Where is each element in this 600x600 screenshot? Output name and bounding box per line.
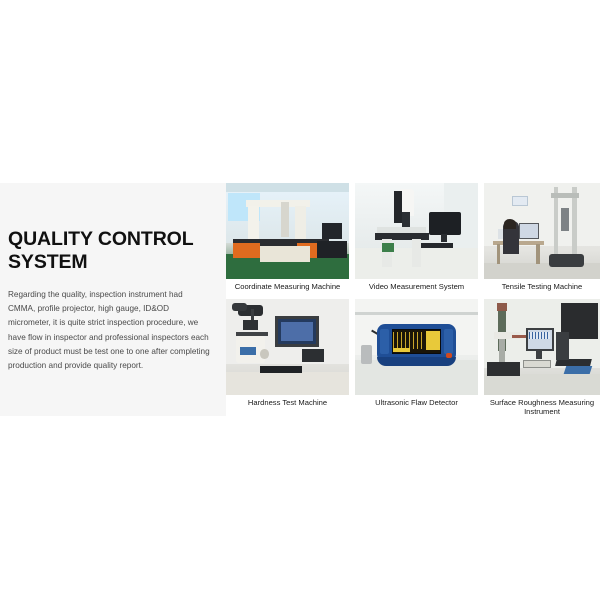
tile-caption: Hardness Test Machine <box>226 395 349 412</box>
tile-caption: Surface Roughness Measuring Instrument <box>484 395 600 419</box>
gallery-tile-hardness-test-machine[interactable]: Hardness Test Machine <box>226 299 349 419</box>
gallery-tile-coordinate-measuring-machine[interactable]: Coordinate Measuring Machine <box>226 183 349 296</box>
hardness-test-machine-photo <box>226 299 349 395</box>
tensile-testing-machine-photo <box>484 183 600 279</box>
ultrasonic-flaw-detector-photo <box>355 299 478 395</box>
page-title: QUALITY CONTROL SYSTEM <box>8 228 212 273</box>
tile-caption: Coordinate Measuring Machine <box>226 279 349 296</box>
tile-caption: Video Measurement System <box>355 279 478 296</box>
surface-roughness-measuring-instrument-photo <box>484 299 600 395</box>
equipment-gallery: Coordinate Measuring Machine Video Measu… <box>226 183 600 416</box>
tile-caption: Tensile Testing Machine <box>484 279 600 296</box>
gallery-tile-tensile-testing-machine[interactable]: Tensile Testing Machine <box>484 183 600 296</box>
gallery-tile-ultrasonic-flaw-detector[interactable]: Ultrasonic Flaw Detector <box>355 299 478 419</box>
gallery-tile-video-measurement-system[interactable]: Video Measurement System <box>355 183 478 296</box>
quality-control-section: QUALITY CONTROL SYSTEM Regarding the qua… <box>0 183 600 416</box>
tile-caption: Ultrasonic Flaw Detector <box>355 395 478 412</box>
panel-description-text: Regarding the quality, inspection instru… <box>8 288 212 373</box>
quality-control-text-panel: QUALITY CONTROL SYSTEM Regarding the qua… <box>0 183 226 416</box>
gallery-tile-surface-roughness-measuring-instrument[interactable]: Surface Roughness Measuring Instrument <box>484 299 600 419</box>
coordinate-measuring-machine-photo <box>226 183 349 279</box>
video-measurement-system-photo <box>355 183 478 279</box>
gallery-row: Hardness Test Machine Ultrasonic Flaw De… <box>226 299 600 419</box>
gallery-row: Coordinate Measuring Machine Video Measu… <box>226 183 600 296</box>
